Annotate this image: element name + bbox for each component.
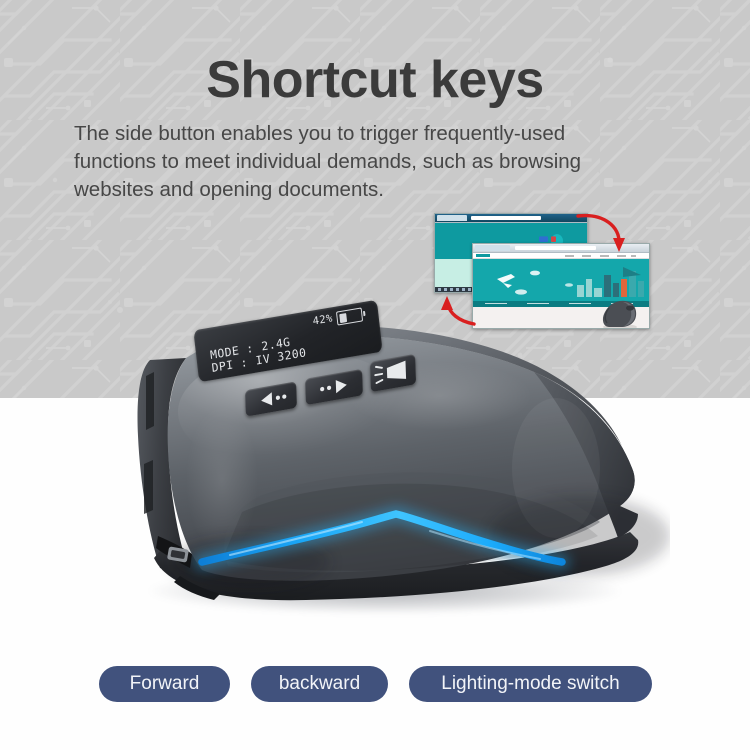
callout-forward[interactable]: Forward — [99, 666, 230, 702]
website-hero-front — [473, 259, 649, 301]
vertical-mouse-device: 42% MODE :2.4G DPI :IV 3200 — [110, 300, 670, 640]
callout-backward[interactable]: backward — [251, 666, 388, 702]
description-line-1: The side button enables you to trigger f… — [74, 120, 684, 148]
browser-urlbar-front — [515, 246, 596, 250]
battery-fill — [339, 313, 347, 323]
browser-tab-back — [437, 215, 467, 221]
description-line-2: functions to meet individual demands, su… — [74, 148, 684, 176]
browser-urlbar-back — [471, 216, 541, 220]
page-title: Shortcut keys — [0, 52, 750, 108]
browser-titlebar-front — [473, 244, 649, 253]
callout-row: Forward backward Lighting-mode switch — [0, 666, 750, 706]
hero-graphics-front — [473, 259, 649, 301]
battery-percent-text: 42% — [312, 312, 333, 327]
page-description: The side button enables you to trigger f… — [74, 120, 684, 204]
website-logo — [476, 254, 490, 257]
browser-tab-front — [475, 245, 510, 251]
description-line-3: websites and opening documents. — [74, 176, 684, 204]
battery-icon — [336, 307, 363, 325]
mouse-body — [110, 300, 670, 640]
product-feature-page: Shortcut keys The side button enables yo… — [0, 0, 750, 750]
callout-lighting-mode[interactable]: Lighting-mode switch — [409, 666, 652, 702]
browser-titlebar-back — [435, 214, 587, 223]
